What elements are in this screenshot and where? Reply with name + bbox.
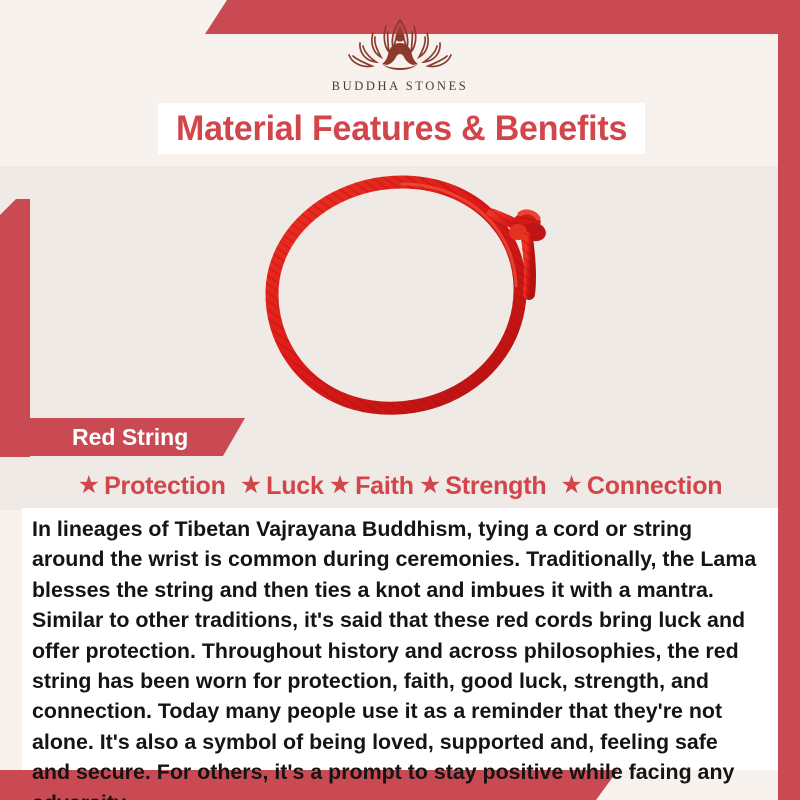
description-panel: In lineages of Tibetan Vajrayana Buddhis… bbox=[22, 508, 778, 770]
lotus-meditation-figure-icon bbox=[330, 14, 470, 76]
red-braided-string-bracelet-icon bbox=[230, 168, 570, 440]
feature-list: ★ Protection ★ Luck ★ Faith ★ Strength ★… bbox=[22, 468, 778, 504]
product-image bbox=[230, 168, 570, 440]
feature-label: Luck bbox=[266, 472, 324, 501]
feature-label: Protection bbox=[104, 472, 226, 501]
brand-wordmark: BUDDHA STONES bbox=[332, 79, 469, 94]
feature-item-faith: ★ Faith bbox=[329, 472, 414, 501]
star-icon: ★ bbox=[240, 473, 262, 498]
feature-item-strength: ★ Strength bbox=[419, 472, 547, 501]
star-icon: ★ bbox=[560, 473, 582, 498]
page-title: Material Features & Benefits bbox=[176, 109, 627, 149]
brand-logo: BUDDHA STONES bbox=[0, 14, 800, 94]
infographic-canvas: BUDDHA STONES Material Features & Benefi… bbox=[0, 0, 800, 800]
title-banner: Material Features & Benefits bbox=[158, 103, 645, 154]
description-text: In lineages of Tibetan Vajrayana Buddhis… bbox=[32, 514, 757, 800]
product-label-text: Red String bbox=[72, 424, 188, 451]
star-icon: ★ bbox=[78, 473, 100, 498]
feature-item-protection: ★ Protection bbox=[78, 472, 226, 501]
feature-label: Faith bbox=[355, 472, 414, 501]
feature-item-connection: ★ Connection bbox=[560, 472, 722, 501]
feature-label: Strength bbox=[445, 472, 546, 501]
feature-label: Connection bbox=[587, 472, 723, 501]
decorative-left-red-bar bbox=[0, 199, 30, 457]
product-label-banner: Red String bbox=[30, 418, 245, 456]
feature-item-luck: ★ Luck bbox=[240, 472, 324, 501]
decorative-right-red-bar bbox=[778, 0, 800, 800]
star-icon: ★ bbox=[329, 473, 351, 498]
star-icon: ★ bbox=[419, 473, 441, 498]
